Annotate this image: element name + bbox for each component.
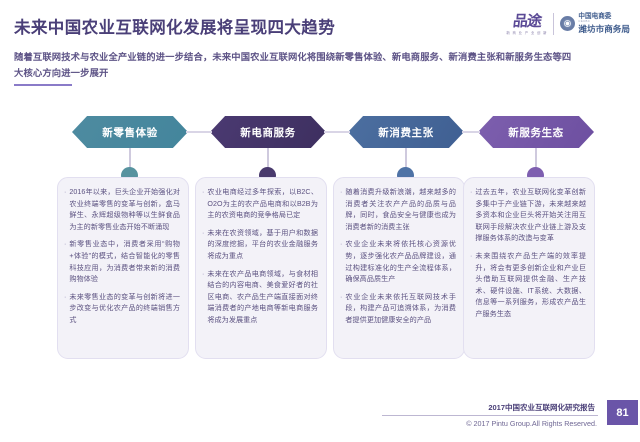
bullet-icon: · <box>470 251 472 321</box>
bullet-icon: · <box>340 292 342 327</box>
bullet-text: 过去五年，农业互联网化变革创新多集中于产业链下游，未来越来越多资本和企业巨头将开… <box>475 187 586 245</box>
bullet-text: 新零售业态中，消费者采用“购物+体验”的模式，结合智能化的零售科技应用，为消费者… <box>69 239 180 285</box>
list-item: · 农业企业未来将依托核心资源优势，逐步强化农产品品牌建设，通过构建标准化的生产… <box>340 239 456 285</box>
subtitle-underline <box>14 84 72 86</box>
trend-header-3[interactable]: 新消费主张 <box>348 116 464 148</box>
bullet-text: 农业企业未来将依托核心资源优势，逐步强化农产品品牌建设，通过构建标准化的生产全流… <box>345 239 456 285</box>
pintu-logo: 品途 新 商 业 产 业 创 新 <box>506 13 547 36</box>
list-item: · 2016年以来，巨头企业开始强化对农业终端零售的变革与创新，盒马鲜生、永辉超… <box>64 187 180 233</box>
page-subtitle: 随着互联网技术与农业全产业链的进一步结合，未来中国农业互联网化将围绕新零售体验、… <box>14 50 574 81</box>
bullet-icon: · <box>64 239 66 285</box>
list-item: · 随着消费升级新浪潮，越来越多的消费者关注农产产品的品质与品牌，同时，食品安全… <box>340 187 456 233</box>
list-item: · 过去五年，农业互联网化变革创新多集中于产业链下游，未来越来越多资本和企业巨头… <box>470 187 586 245</box>
bullet-icon: · <box>202 187 204 222</box>
page-number-badge: 81 <box>607 400 638 425</box>
bullet-icon: · <box>202 269 204 327</box>
slide-header: 未来中国农业互联网化发展将呈现四大趋势 随着互联网技术与农业全产业链的进一步结合… <box>0 0 640 100</box>
list-item: · 未来零售业态的变革与创新将进一步改变与优化农产品的终端销售方式 <box>64 292 180 327</box>
hex-connector-1-2 <box>186 131 212 133</box>
trend-header-2[interactable]: 新电商服务 <box>210 116 326 148</box>
council-abbrev: CECBC <box>578 20 630 23</box>
trend-card-1: · 2016年以来，巨头企业开始强化对农业终端零售的变革与创新，盒马鲜生、永辉超… <box>57 177 189 359</box>
report-title: 2017中国农业互联网化研究报告 <box>488 402 595 413</box>
list-item: · 农业电商经过多年探索，以B2C、O2O为主的农产品电商和以B2B为主的农资电… <box>202 187 318 222</box>
bullet-text: 未来零售业态的变革与创新将进一步改变与优化农产品的终端销售方式 <box>69 292 180 327</box>
bullet-text: 随着消费升级新浪潮，越来越多的消费者关注农产产品的品质与品牌，同时，食品安全与健… <box>345 187 456 233</box>
copyright-text: © 2017 Pintu Group.All Rights Reserved. <box>466 419 597 428</box>
council-logo-text: 中国电商委 CECBC 潍坊市商务局 <box>578 14 630 35</box>
trend-header-1[interactable]: 新零售体验 <box>72 116 188 148</box>
list-item: · 新零售业态中，消费者采用“购物+体验”的模式，结合智能化的零售科技应用，为消… <box>64 239 180 285</box>
bullet-text: 未来在农产品电商领域，与食材相结合的内容电商、美食爱好者的社区电商、农产品生产端… <box>207 269 318 327</box>
bullet-text: 未来在农资领域，基于用户和数据的深度挖掘，平台的农业金融服务将成为重点 <box>207 228 318 263</box>
council-logo: 中国电商委 CECBC 潍坊市商务局 <box>560 14 630 35</box>
pintu-logo-tagline: 新 商 业 产 业 创 新 <box>506 30 547 35</box>
bureau-name: 潍坊市商务局 <box>578 25 630 34</box>
logo-divider <box>553 13 554 35</box>
list-item: · 未来在农资领域，基于用户和数据的深度挖掘，平台的农业金融服务将成为重点 <box>202 228 318 263</box>
bullet-icon: · <box>340 239 342 285</box>
hex-connector-3-4 <box>462 131 480 133</box>
logo-group: 品途 新 商 业 产 业 创 新 中国电商委 CECBC 潍坊市商务局 <box>506 8 630 40</box>
bullet-text: 农业电商经过多年探索，以B2C、O2O为主的农产品电商和以B2B为主的农资电商的… <box>207 187 318 222</box>
hex-connector-2-3 <box>324 131 350 133</box>
pintu-logo-mark: 品途 <box>512 13 542 29</box>
trend-card-2: · 农业电商经过多年探索，以B2C、O2O为主的农产品电商和以B2B为主的农资电… <box>195 177 327 359</box>
slide-footer: 2017中国农业互联网化研究报告 © 2017 Pintu Group.All … <box>340 400 640 434</box>
bullet-text: 未来围绕农产品生产端的效率提升，将会有更多创新企业和产业巨头借助互联网提供金融、… <box>475 251 586 321</box>
bullet-icon: · <box>202 228 204 263</box>
trend-header-4[interactable]: 新服务生态 <box>478 116 594 148</box>
bullet-text: 2016年以来，巨头企业开始强化对农业终端零售的变革与创新，盒马鲜生、永辉超级物… <box>69 187 180 233</box>
bullet-text: 农业企业未来依托互联网技术手段，构建产品可追溯体系，为消费者提供更加健康安全的产… <box>345 292 456 327</box>
bullet-icon: · <box>64 292 66 327</box>
page-title: 未来中国农业互联网化发展将呈现四大趋势 <box>14 14 335 38</box>
list-item: · 农业企业未来依托互联网技术手段，构建产品可追溯体系，为消费者提供更加健康安全… <box>340 292 456 327</box>
trend-card-3: · 随着消费升级新浪潮，越来越多的消费者关注农产产品的品质与品牌，同时，食品安全… <box>333 177 465 359</box>
list-item: · 未来在农产品电商领域，与食材相结合的内容电商、美食爱好者的社区电商、农产品生… <box>202 269 318 327</box>
footer-divider <box>382 415 598 416</box>
trend-card-4: · 过去五年，农业互联网化变革创新多集中于产业链下游，未来越来越多资本和企业巨头… <box>463 177 595 359</box>
list-item: · 未来围绕农产品生产端的效率提升，将会有更多创新企业和产业巨头借助互联网提供金… <box>470 251 586 321</box>
bullet-icon: · <box>340 187 342 233</box>
bullet-icon: · <box>64 187 66 233</box>
bullet-icon: · <box>470 187 472 245</box>
globe-emblem-icon <box>560 16 575 31</box>
